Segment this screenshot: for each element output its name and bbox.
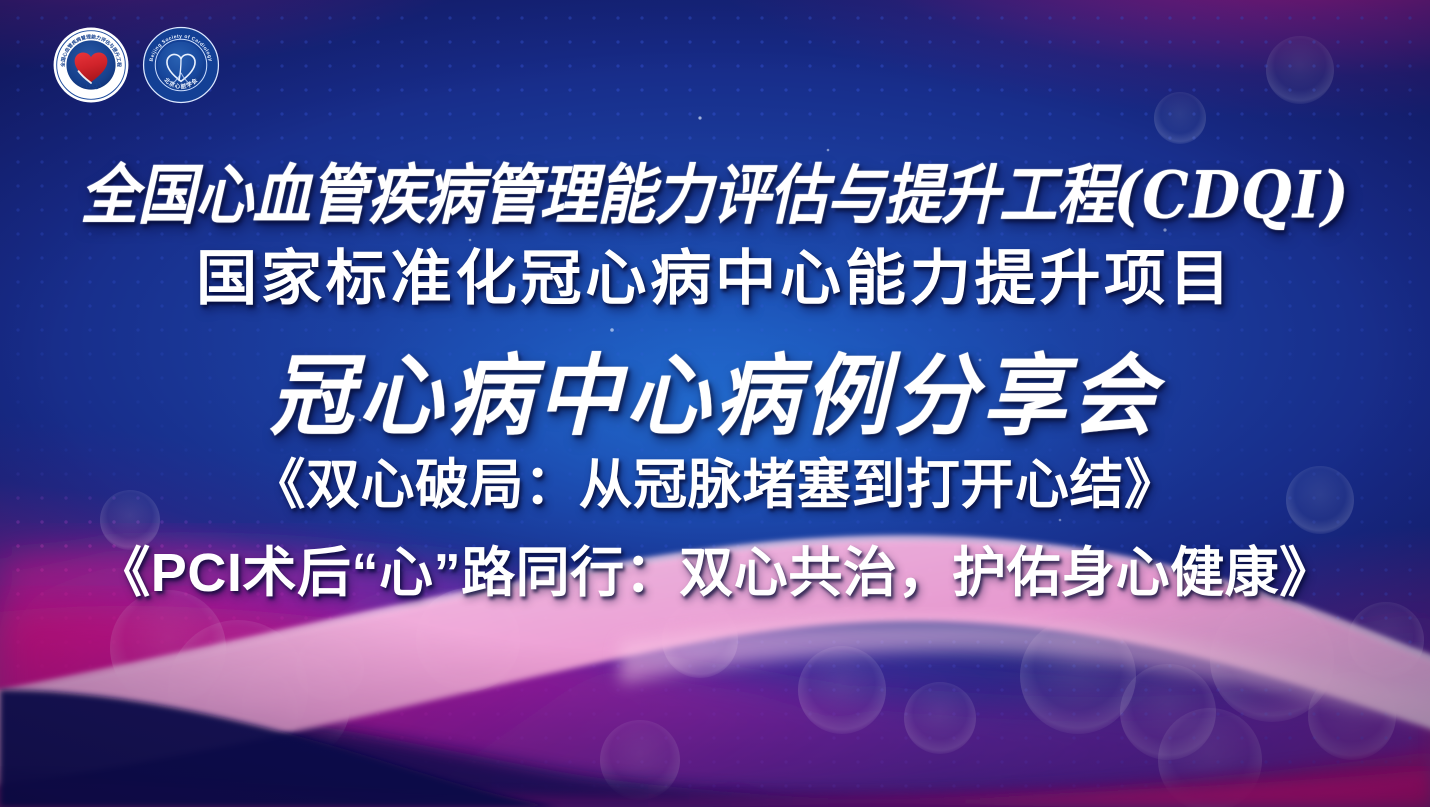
event-title-line: 冠心病中心病例分享会 [0, 346, 1430, 447]
beijing-society-of-cardiology-logo: Beijing Society of Cardiology 北京心脏学会 [142, 26, 220, 104]
logo-group: 全国心血管疾病管理能力评估与提升工程 CDQI [52, 26, 220, 104]
program-acronym-text: (CDQI) [1114, 157, 1350, 233]
program-title-line: 全国心血管疾病管理能力评估与提升工程(CDQI) [0, 156, 1430, 234]
case-title-line-2: 《PCI术后“心”路同行：双心共治，护佑身心健康》 [0, 540, 1430, 606]
poster-canvas: 全国心血管疾病管理能力评估与提升工程 CDQI [0, 0, 1430, 807]
program-title-text: 全国心血管疾病管理能力评估与提升工程 [80, 157, 1114, 233]
project-title-line: 国家标准化冠心病中心能力提升项目 [0, 243, 1430, 315]
cdqi-logo: 全国心血管疾病管理能力评估与提升工程 CDQI [52, 26, 130, 104]
case-title-line-1: 《双心破局：从冠脉堵塞到打开心结》 [0, 452, 1430, 518]
